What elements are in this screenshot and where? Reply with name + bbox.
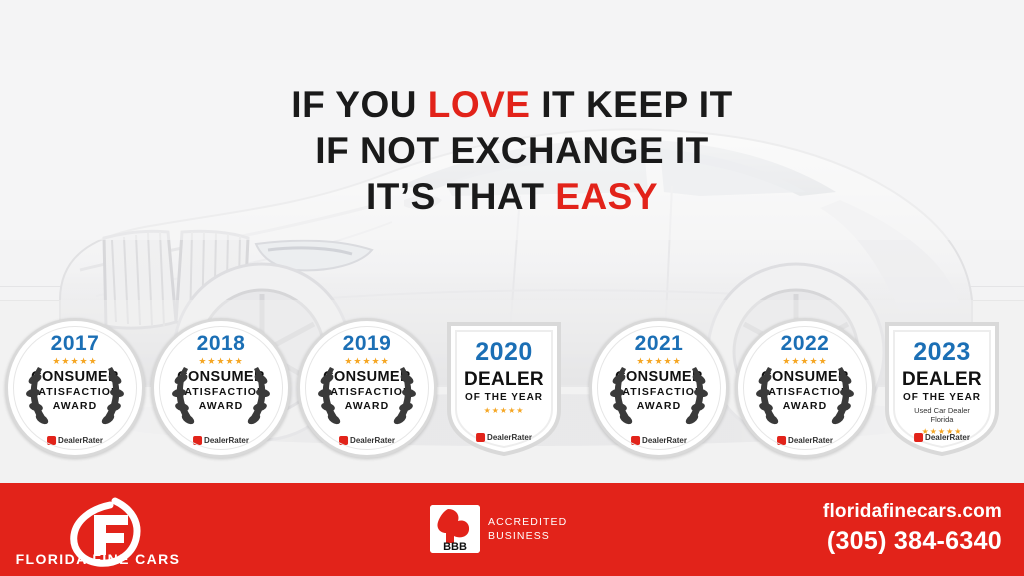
- dealerrater-logo: DealerRater: [339, 436, 395, 445]
- dealerrater-label: DealerRater: [642, 436, 687, 445]
- dealerrater-mark-icon: [476, 433, 485, 442]
- dealer-of-the-year-badge: 2023 DEALER OF THE YEAR Used Car Dealer …: [881, 318, 1003, 458]
- headline-accent-love: LOVE: [428, 84, 531, 125]
- badge-subtitle-2: Used Car Dealer Florida: [914, 406, 970, 424]
- award-badge-2023: 2023 DEALER OF THE YEAR Used Car Dealer …: [881, 318, 1019, 458]
- dealerrater-label: DealerRater: [487, 433, 532, 442]
- dealerrater-logo: DealerRater: [47, 436, 103, 445]
- consumer-satisfaction-badge: 2019 ★★★★★ CONSUMER SATISFACTION AWARD D…: [297, 318, 437, 458]
- dealerrater-mark-icon: [914, 433, 923, 442]
- headline-line1-pre: IF YOU: [291, 84, 427, 125]
- bbb-line-1: ACCREDITED: [488, 515, 567, 529]
- award-badge-2020: 2020 DEALER OF THE YEAR ★★★★★ DealerRate…: [443, 318, 581, 458]
- award-badges-row: 2017 ★★★★★ CONSUMER SATISFACTION AWARD D…: [0, 318, 1024, 466]
- consumer-satisfaction-badge: 2021 ★★★★★ CONSUMER SATISFACTION AWARD D…: [589, 318, 729, 458]
- laurel-wreath-icon: [592, 321, 726, 455]
- phone-number[interactable]: (305) 384-6340: [823, 527, 1002, 556]
- laurel-wreath-icon: [8, 321, 142, 455]
- bbb-mark-label: BBB: [443, 541, 467, 553]
- badge-year: 2023: [913, 338, 971, 367]
- dealerrater-label: DealerRater: [58, 436, 103, 445]
- award-badge-2022: 2022 ★★★★★ CONSUMER SATISFACTION AWARD D…: [735, 318, 873, 458]
- dealerrater-logo: DealerRater: [777, 436, 833, 445]
- contact-block: floridafinecars.com (305) 384-6340: [823, 501, 1002, 556]
- headline: IF YOU LOVE IT KEEP IT IF NOT EXCHANGE I…: [0, 82, 1024, 220]
- bbb-line-2: BUSINESS: [488, 529, 567, 543]
- dealer-of-the-year-badge: 2020 DEALER OF THE YEAR ★★★★★ DealerRate…: [443, 318, 565, 458]
- headline-line-3: IT’S THAT EASY: [0, 174, 1024, 220]
- headline-accent-easy: EASY: [555, 176, 658, 217]
- dealerrater-label: DealerRater: [925, 433, 970, 442]
- dealerrater-logo: DealerRater: [193, 436, 249, 445]
- website-link[interactable]: floridafinecars.com: [823, 501, 1002, 523]
- bbb-text: ACCREDITED BUSINESS: [488, 515, 567, 543]
- award-badge-2019: 2019 ★★★★★ CONSUMER SATISFACTION AWARD D…: [297, 318, 435, 458]
- dealerrater-mark-icon: [339, 436, 348, 445]
- dealerrater-mark-icon: [47, 436, 56, 445]
- bbb-mark-icon: BBB: [430, 505, 480, 553]
- dealerrater-label: DealerRater: [350, 436, 395, 445]
- dealerrater-logo: DealerRater: [476, 433, 532, 442]
- headline-line1-post: IT KEEP IT: [531, 84, 733, 125]
- badge-title: DEALER: [902, 369, 982, 391]
- dealerrater-mark-icon: [777, 436, 786, 445]
- promo-banner: IF YOU LOVE IT KEEP IT IF NOT EXCHANGE I…: [0, 0, 1024, 576]
- badge-year: 2020: [475, 338, 533, 367]
- headline-line3-pre: IT’S THAT: [366, 176, 555, 217]
- award-badge-2018: 2018 ★★★★★ CONSUMER SATISFACTION AWARD D…: [151, 318, 289, 458]
- badge-title: DEALER: [464, 369, 544, 391]
- consumer-satisfaction-badge: 2017 ★★★★★ CONSUMER SATISFACTION AWARD D…: [5, 318, 145, 458]
- laurel-wreath-icon: [738, 321, 872, 455]
- brand-name: FLORIDA FINE CARS: [8, 551, 188, 567]
- laurel-wreath-icon: [300, 321, 434, 455]
- star-rating-icon: ★★★★★: [484, 406, 525, 415]
- bbb-accredited-logo: BBB ACCREDITED BUSINESS: [430, 505, 567, 553]
- headline-line-1: IF YOU LOVE IT KEEP IT: [0, 82, 1024, 128]
- award-badge-2021: 2021 ★★★★★ CONSUMER SATISFACTION AWARD D…: [589, 318, 727, 458]
- dealerrater-mark-icon: [193, 436, 202, 445]
- dealerrater-label: DealerRater: [788, 436, 833, 445]
- award-badge-2017: 2017 ★★★★★ CONSUMER SATISFACTION AWARD D…: [5, 318, 143, 458]
- dealerrater-mark-icon: [631, 436, 640, 445]
- dealerrater-logo: DealerRater: [631, 436, 687, 445]
- dealerrater-label: DealerRater: [204, 436, 249, 445]
- dealerrater-logo: DealerRater: [914, 433, 970, 442]
- footer-bar: FLORIDA FINE CARS BBB ACCREDITED BUSINES…: [0, 483, 1024, 576]
- headline-line-2: IF NOT EXCHANGE IT: [0, 128, 1024, 174]
- consumer-satisfaction-badge: 2018 ★★★★★ CONSUMER SATISFACTION AWARD D…: [151, 318, 291, 458]
- laurel-wreath-icon: [154, 321, 288, 455]
- badge-subtitle-1: OF THE YEAR: [903, 392, 981, 403]
- badge-subtitle-1: OF THE YEAR: [465, 392, 543, 403]
- consumer-satisfaction-badge: 2022 ★★★★★ CONSUMER SATISFACTION AWARD D…: [735, 318, 875, 458]
